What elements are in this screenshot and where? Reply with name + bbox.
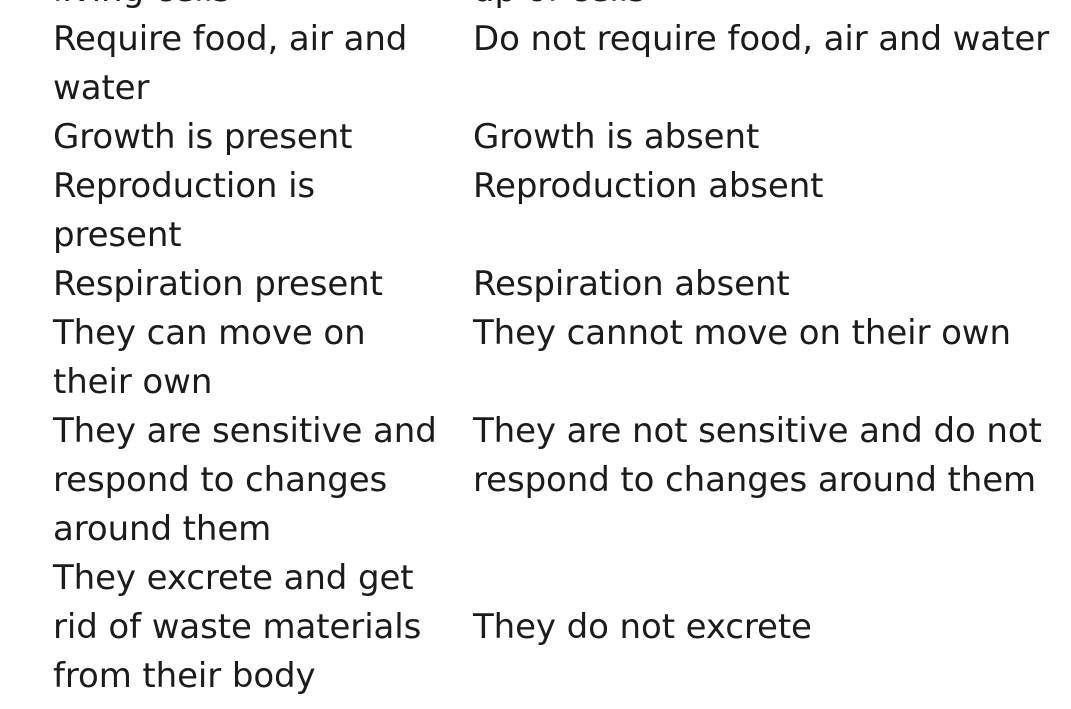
table-row: Reproduction is present Reproduction abs… bbox=[0, 162, 1071, 260]
table-row: Living things have a definite life span … bbox=[0, 701, 1071, 709]
cell-text: Do not require food, air and water bbox=[473, 15, 1059, 64]
cell-text: They cannot move on their own bbox=[473, 309, 1059, 358]
table-cell-nonliving: They are not sensitive and do not respon… bbox=[455, 407, 1071, 554]
cell-text: Growth is present bbox=[53, 113, 443, 162]
table-cell-nonliving: Non-living things do not have definite l… bbox=[455, 701, 1071, 709]
table-cell-living: They are sensitive and respond to change… bbox=[0, 407, 455, 554]
cell-text: They excrete and get rid of waste materi… bbox=[53, 554, 443, 701]
table-cell-nonliving: Reproduction absent bbox=[455, 162, 1071, 260]
cell-text: up of cells bbox=[473, 0, 1059, 15]
table-cell-nonliving: They do not excrete bbox=[455, 554, 1071, 701]
comparison-table: living cells up of cells Require food, a… bbox=[0, 0, 1071, 709]
table-cell-living: They can move on their own bbox=[0, 309, 455, 407]
table-cell-living: living cells bbox=[0, 0, 455, 15]
table-cell-nonliving: Respiration absent bbox=[455, 260, 1071, 309]
cell-text: Reproduction absent bbox=[473, 162, 1059, 211]
table-cell-living: They excrete and get rid of waste materi… bbox=[0, 554, 455, 701]
cell-text: Living things have a definite life span … bbox=[53, 701, 443, 709]
table-row: Respiration present Respiration absent bbox=[0, 260, 1071, 309]
cell-text: Respiration absent bbox=[473, 260, 1059, 309]
cell-text: Respiration present bbox=[53, 260, 443, 309]
cell-text: Require food, air and water bbox=[53, 15, 443, 113]
table-cell-living: Growth is present bbox=[0, 113, 455, 162]
scroll-viewport[interactable]: living cells up of cells Require food, a… bbox=[0, 0, 1071, 709]
cell-text: They are sensitive and respond to change… bbox=[53, 407, 443, 554]
cell-text: They are not sensitive and do not respon… bbox=[473, 407, 1059, 505]
table-row: living cells up of cells bbox=[0, 0, 1071, 15]
table-cell-nonliving: Growth is absent bbox=[455, 113, 1071, 162]
table-cell-living: Living things have a definite life span … bbox=[0, 701, 455, 709]
document-content: living cells up of cells Require food, a… bbox=[0, 0, 1071, 709]
cell-text: Growth is absent bbox=[473, 113, 1059, 162]
table-cell-living: Require food, air and water bbox=[0, 15, 455, 113]
table-cell-nonliving: up of cells bbox=[455, 0, 1071, 15]
table-row: They can move on their own They cannot m… bbox=[0, 309, 1071, 407]
table-cell-nonliving: They cannot move on their own bbox=[455, 309, 1071, 407]
cell-text: Non-living things do not have definite l… bbox=[473, 701, 1059, 709]
cell-text: They can move on their own bbox=[53, 309, 443, 407]
document-page: living cells up of cells Require food, a… bbox=[0, 0, 1071, 709]
table-cell-living: Respiration present bbox=[0, 260, 455, 309]
comparison-table-body: living cells up of cells Require food, a… bbox=[0, 0, 1071, 709]
table-row: Growth is present Growth is absent bbox=[0, 113, 1071, 162]
table-row: Require food, air and water Do not requi… bbox=[0, 15, 1071, 113]
table-row: They excrete and get rid of waste materi… bbox=[0, 554, 1071, 701]
table-cell-living: Reproduction is present bbox=[0, 162, 455, 260]
table-row: They are sensitive and respond to change… bbox=[0, 407, 1071, 554]
cell-text: living cells bbox=[53, 0, 443, 15]
cell-text: They do not excrete bbox=[473, 603, 1059, 652]
table-cell-nonliving: Do not require food, air and water bbox=[455, 15, 1071, 113]
cell-text: Reproduction is present bbox=[53, 162, 443, 260]
